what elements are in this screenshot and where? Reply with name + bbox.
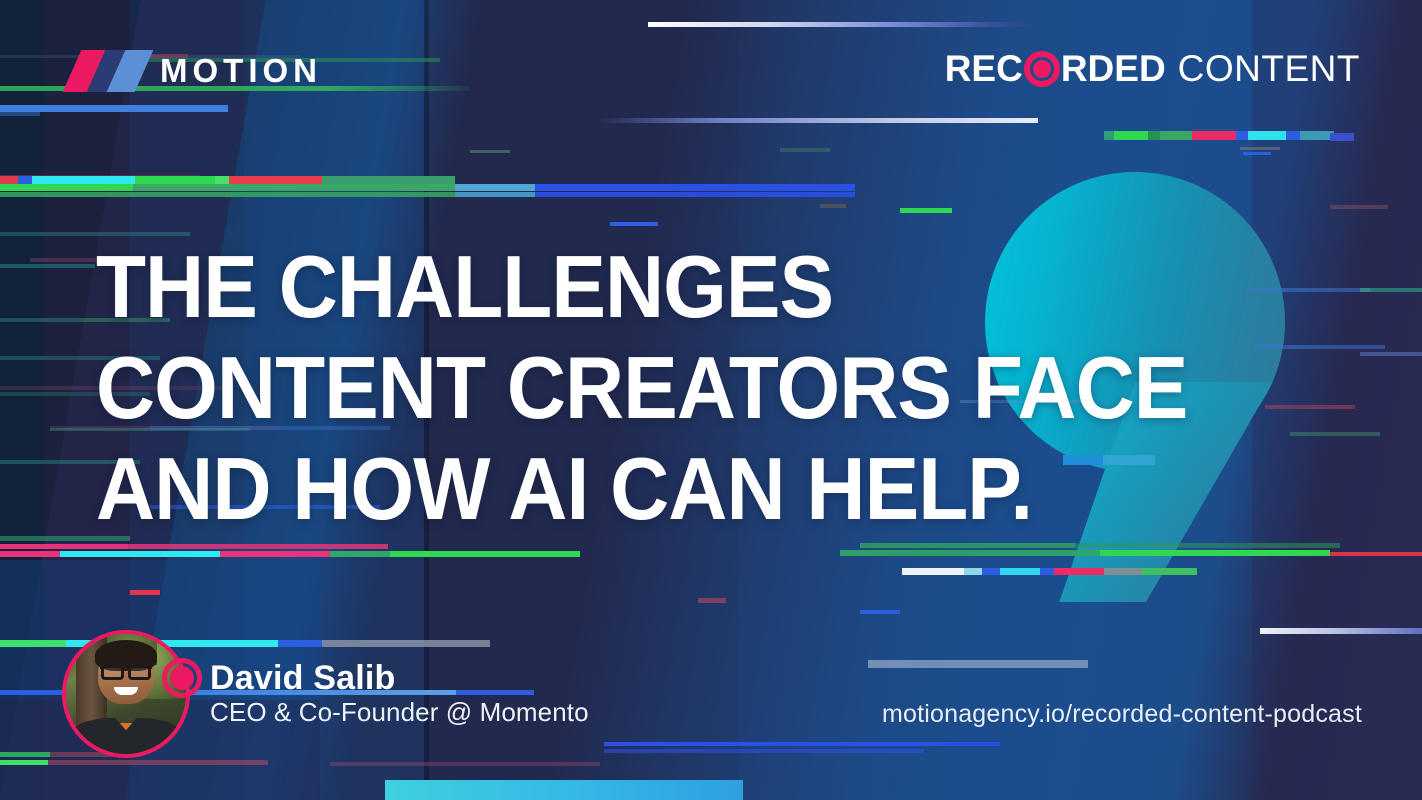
glitch-stripe [780, 148, 830, 152]
stripe-segment [1236, 131, 1248, 140]
glitch-stripe [0, 551, 60, 557]
glitch-stripe [330, 551, 390, 557]
glitch-stripe [0, 690, 60, 695]
glitch-stripe [1330, 552, 1422, 556]
glitch-stripe [860, 543, 1075, 548]
glitch-stripe [220, 551, 330, 557]
speaker-text: David Salib CEO & Co-Founder @ Momento [210, 660, 589, 728]
stripe-segment [902, 568, 964, 575]
glitch-stripe [455, 192, 535, 197]
glitch-stripe [1330, 205, 1388, 209]
bg-band-left [0, 0, 44, 800]
glitch-stripe [1255, 345, 1385, 349]
glitch-stripe [0, 752, 50, 757]
glitch-stripe [455, 184, 535, 191]
glitch-stripe [1265, 405, 1355, 409]
stripe-segment [1040, 568, 1054, 575]
stripe-segment [135, 176, 215, 184]
glitch-stripe-multicolor [1104, 131, 1334, 140]
stripe-segment [215, 176, 229, 184]
glitch-stripe [1240, 147, 1280, 150]
page-title: THE CHALLENGES CONTENT CREATORS FACE AND… [96, 236, 1175, 539]
glasses-lens-right [128, 665, 151, 679]
glitch-stripe [1250, 288, 1370, 292]
record-badge-icon [162, 658, 202, 698]
stripe-segment [1248, 131, 1286, 140]
podcast-title-card: MOTION REC RDED CONTENT THE CHALLENGES C… [0, 0, 1422, 800]
glitch-stripe [0, 760, 48, 765]
glitch-stripe [0, 544, 128, 549]
stripe-segment [1148, 131, 1160, 140]
glitch-stripe [535, 184, 855, 191]
glitch-stripe [48, 760, 268, 765]
avatar [62, 630, 190, 758]
podcast-url[interactable]: motionagency.io/recorded-content-podcast [882, 700, 1362, 729]
glitch-stripe-multicolor [0, 176, 455, 184]
glitch-stripe [598, 118, 1038, 123]
glitch-stripe [133, 184, 458, 191]
glitch-stripe [0, 175, 200, 179]
stripe-segment [982, 568, 1000, 575]
speaker-name: David Salib [210, 660, 589, 697]
glitch-stripe [1260, 628, 1422, 634]
glitch-stripe [604, 742, 1000, 746]
record-circle-icon [1024, 51, 1060, 87]
motion-parallelogram-icon [72, 50, 144, 92]
glitch-stripe [610, 222, 658, 226]
stripe-segment [1000, 568, 1040, 575]
glitch-stripe [0, 184, 140, 191]
recorded-bold-2: RDED [1061, 48, 1166, 90]
stripe-segment [1104, 568, 1142, 575]
headline-line-1: THE CHALLENGES [96, 236, 1175, 337]
stripe-segment [32, 176, 135, 184]
recorded-bold-1: REC [945, 48, 1023, 90]
stripe-segment [1104, 131, 1114, 140]
glasses-lens-left [101, 665, 124, 679]
stripe-segment [18, 176, 32, 184]
glitch-stripe [470, 150, 510, 153]
glitch-stripe [648, 22, 1036, 27]
glitch-stripe [0, 264, 95, 268]
bg-band-right [1252, 0, 1422, 800]
glitch-stripe [820, 204, 846, 208]
glitch-stripe [1075, 543, 1340, 548]
stripe-segment [0, 176, 18, 184]
stripe-segment [1192, 131, 1236, 140]
glitch-stripe [535, 192, 855, 197]
headline-line-3: AND HOW AI CAN HELP. [96, 438, 1175, 539]
stripe-segment [1300, 131, 1334, 140]
glitch-stripe [860, 610, 900, 614]
glitch-stripe [390, 551, 580, 557]
glitch-stripe [1360, 352, 1422, 356]
motion-logo[interactable]: MOTION [72, 50, 322, 92]
stripe-segment [1114, 131, 1148, 140]
glitch-stripe [840, 550, 1100, 556]
glitch-stripe [1100, 550, 1330, 556]
headline-line-2: CONTENT CREATORS FACE [96, 337, 1175, 438]
glitch-stripe [900, 208, 952, 213]
stripe-segment [322, 176, 455, 184]
glitch-stripe [1360, 288, 1422, 292]
glitch-stripe [60, 551, 220, 557]
stripe-segment [229, 176, 322, 184]
bottom-accent-bar [385, 780, 743, 800]
stripe-segment [1286, 131, 1300, 140]
stripe-segment [1160, 131, 1192, 140]
glitch-stripe [868, 660, 1088, 668]
stripe-segment [1142, 568, 1197, 575]
glitch-stripe [0, 192, 455, 197]
glitch-stripe [1243, 152, 1271, 155]
glitch-stripe [130, 590, 160, 595]
glitch-stripe-multicolor [902, 568, 1197, 575]
glitch-stripe [0, 105, 228, 112]
glitch-stripe [0, 112, 40, 116]
glitch-stripe [128, 544, 388, 549]
glitch-stripe [1290, 432, 1380, 436]
glitch-stripe [698, 598, 726, 603]
glitch-stripe [604, 749, 924, 753]
speaker-role: CEO & Co-Founder @ Momento [210, 697, 589, 728]
motion-wordmark: MOTION [160, 52, 322, 90]
stripe-segment [964, 568, 982, 575]
recorded-content-logo[interactable]: REC RDED CONTENT [945, 48, 1360, 90]
stripe-segment [1054, 568, 1104, 575]
glitch-stripe [0, 318, 80, 322]
speaker-block: David Salib CEO & Co-Founder @ Momento [62, 630, 589, 758]
glitch-stripe [330, 762, 600, 766]
glitch-stripe [1330, 133, 1354, 141]
stripe-segment [0, 640, 66, 647]
content-light: CONTENT [1178, 48, 1360, 90]
